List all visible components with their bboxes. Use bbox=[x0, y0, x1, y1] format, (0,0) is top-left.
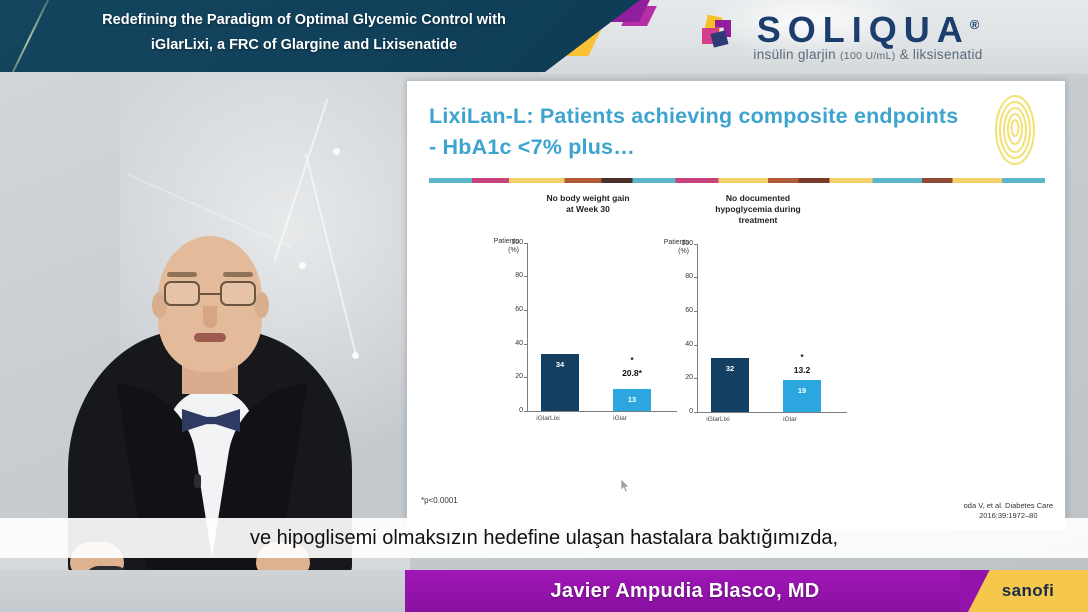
chart-a-ytick: 0 bbox=[477, 407, 523, 414]
chart-a-ytick: 80 bbox=[477, 272, 523, 279]
charts-container: No body weight gain at Week 30 Patients … bbox=[407, 193, 1067, 473]
nose bbox=[203, 306, 217, 328]
slide-footnote: *p<0.0001 bbox=[421, 496, 458, 505]
slide-title-line2: - HbA1c <7% plus… bbox=[429, 132, 969, 163]
chart-b-bar-value-iglar: 19 bbox=[783, 386, 821, 395]
chart-b-bar-iglarlixi: 32 bbox=[711, 358, 749, 412]
chart-b-title-line2: hypoglycemia during bbox=[676, 204, 841, 215]
slide-title: LixiLan-L: Patients achieving composite … bbox=[429, 101, 969, 163]
chart-b-xtick-iglarlixi: iGlarLixi bbox=[688, 416, 748, 423]
subtitle-caption: ve hipoglisemi olmaksızın hedefine ulaşa… bbox=[0, 518, 1088, 558]
chart-b-ytick: 40 bbox=[647, 341, 693, 348]
chart-b-significance-star: * bbox=[800, 353, 803, 362]
chart-b-plot: Patients (%) 100 80 60 40 20 0 32 19 bbox=[643, 230, 873, 442]
chart-a-ytick: 40 bbox=[477, 340, 523, 347]
chart-a-xtick-iglar: iGlar bbox=[590, 415, 650, 422]
chart-b-ylabel-2: (%) bbox=[643, 247, 689, 256]
eyeglasses-bridge bbox=[200, 293, 220, 296]
chart-b-bar-iglar: 19 bbox=[783, 380, 821, 412]
chart-b-difference-value: 13.2 bbox=[794, 365, 811, 375]
soliqua-mark-icon bbox=[700, 14, 734, 48]
eyeglasses-left-lens bbox=[164, 281, 200, 306]
eyebrow-right bbox=[223, 272, 253, 277]
mouse-cursor-icon bbox=[621, 479, 630, 493]
eyebrow-left bbox=[167, 272, 197, 277]
presentation-title-line2: iGlarLixi, a FRC of Glargine and Lixisen… bbox=[44, 33, 564, 58]
ear-right bbox=[254, 292, 269, 318]
chart-a-ytick: 100 bbox=[477, 239, 523, 246]
chart-b-ytick: 60 bbox=[647, 307, 693, 314]
soliqua-sub-c: & liksisenatid bbox=[896, 47, 983, 62]
slide-title-line1: LixiLan-L: Patients achieving composite … bbox=[429, 101, 969, 132]
soliqua-sub-a: insülin glarjin bbox=[753, 47, 840, 62]
soliqua-logo: SOLIQUA® insülin glarjin (100 U/mL) & li… bbox=[700, 6, 1000, 62]
sanofi-logo: sanofi bbox=[968, 570, 1088, 612]
chart-b-title-line1: No documented bbox=[676, 193, 841, 204]
chart-b-difference-annotation: * 13.2 bbox=[777, 365, 827, 375]
registered-trademark-icon: ® bbox=[970, 17, 980, 32]
fingerprint-icon bbox=[993, 93, 1037, 167]
chart-b-title: No documented hypoglycemia during treatm… bbox=[676, 193, 841, 226]
chart-a-difference-value: 20.8* bbox=[622, 368, 642, 378]
decorative-color-rule bbox=[429, 178, 1045, 183]
chart-b-title-line3: treatment bbox=[676, 215, 841, 226]
chart-a-significance-star: * bbox=[630, 356, 633, 365]
citation-line1: oda V, et al. Diabetes Care bbox=[964, 501, 1053, 511]
footer-bar: Javier Ampudia Blasco, MD sanofi bbox=[0, 570, 1088, 612]
chart-a-ytick: 20 bbox=[477, 373, 523, 380]
chart-a-bar-value-iglarlixi: 34 bbox=[541, 360, 579, 369]
presentation-title-line1: Redefining the Paradigm of Optimal Glyce… bbox=[44, 8, 564, 33]
chart-b-bar-value-iglarlixi: 32 bbox=[711, 364, 749, 373]
chart-b-ytick: 80 bbox=[647, 273, 693, 280]
soliqua-name: SOLIQUA bbox=[757, 9, 970, 50]
chart-a-ylabel-2: (%) bbox=[473, 246, 519, 255]
soliqua-sub-b: (100 U/mL) bbox=[840, 50, 896, 62]
footer-left-strip bbox=[0, 570, 405, 612]
chart-a-xtick-iglarlixi: iGlarLixi bbox=[518, 415, 578, 422]
chart-a-y-axis bbox=[527, 243, 528, 411]
mouth bbox=[194, 333, 226, 342]
chart-a-bar-iglarlixi: 34 bbox=[541, 354, 579, 411]
chart-b-ytick: 100 bbox=[647, 240, 693, 247]
chart-b-ytick: 20 bbox=[647, 374, 693, 381]
speaker-name: Javier Ampudia Blasco, MD bbox=[405, 570, 965, 612]
speaker-figure bbox=[60, 150, 360, 580]
chart-b-x-axis bbox=[697, 412, 847, 413]
presentation-title: Redefining the Paradigm of Optimal Glyce… bbox=[44, 8, 564, 58]
slide-panel: LixiLan-L: Patients achieving composite … bbox=[406, 80, 1066, 532]
chart-b-ytick: 0 bbox=[647, 408, 693, 415]
lapel-microphone bbox=[194, 474, 201, 488]
chart-a-ytick: 60 bbox=[477, 306, 523, 313]
chart-b-xtick-iglar: iGlar bbox=[760, 416, 820, 423]
chart-b-y-axis bbox=[697, 244, 698, 412]
chart-no-documented-hypoglycemia: No documented hypoglycemia during treatm… bbox=[643, 193, 873, 463]
eyeglasses-right-lens bbox=[220, 281, 256, 306]
soliqua-wordmark: SOLIQUA® bbox=[700, 6, 1000, 49]
soliqua-subtitle: insülin glarjin (100 U/mL) & liksisenati… bbox=[700, 47, 1000, 62]
